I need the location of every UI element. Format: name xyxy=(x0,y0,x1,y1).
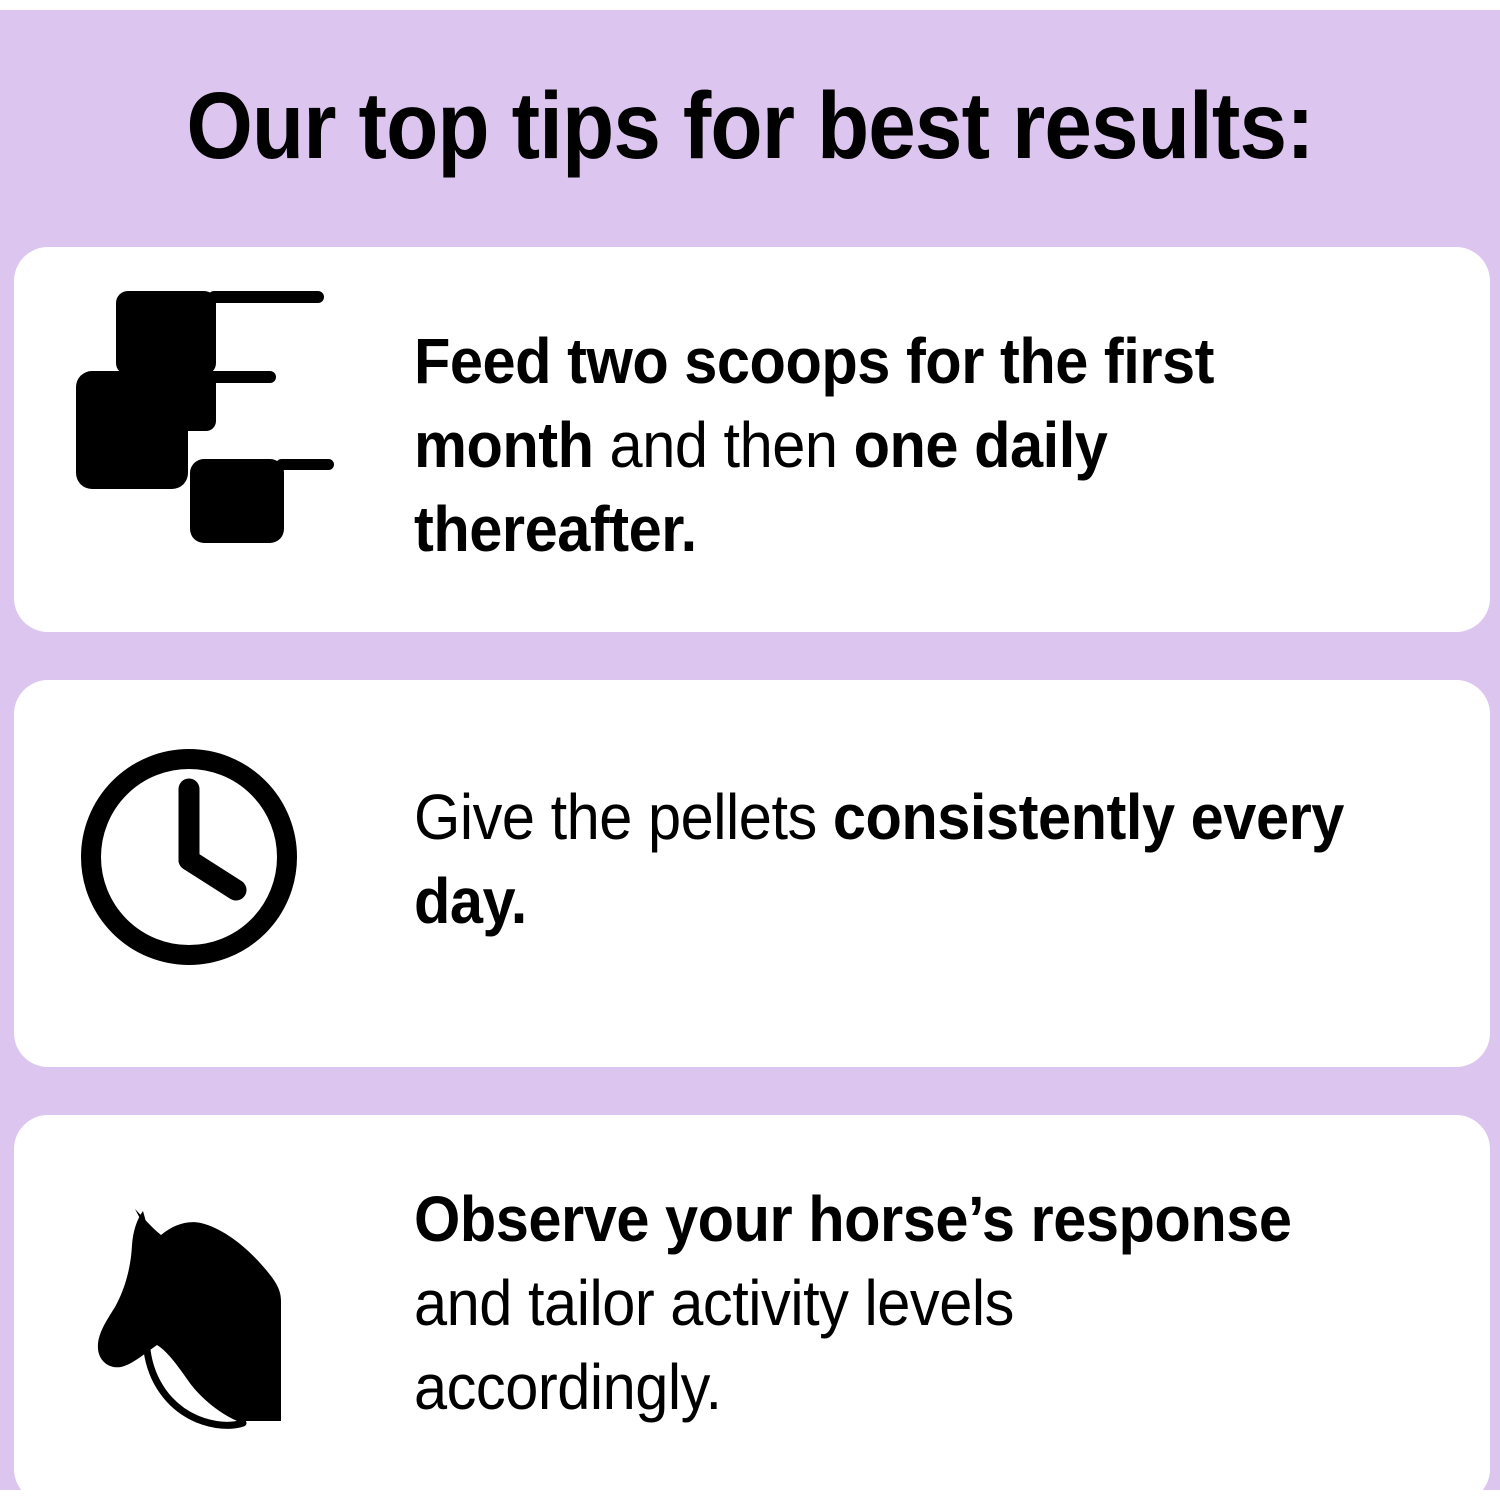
tip-card: Give the pellets consistently every day. xyxy=(14,680,1490,1067)
infographic-page: Our top tips for best results: Feed two … xyxy=(0,0,1500,1500)
tip-text: Feed two scoops for the first month and … xyxy=(414,319,1344,571)
scoops-icon xyxy=(68,273,338,543)
lavender-panel: Our top tips for best results: Feed two … xyxy=(0,10,1500,1490)
tip-card: Observe your horse’s response and tailor… xyxy=(14,1115,1490,1490)
clock-icon xyxy=(74,742,304,972)
tip-text: Observe your horse’s response and tailor… xyxy=(414,1177,1325,1429)
page-title: Our top tips for best results: xyxy=(75,76,1425,176)
tip-card: Feed two scoops for the first month and … xyxy=(14,247,1490,632)
horse-head-icon xyxy=(69,1175,334,1440)
tip-text: Give the pellets consistently every day. xyxy=(414,775,1353,943)
